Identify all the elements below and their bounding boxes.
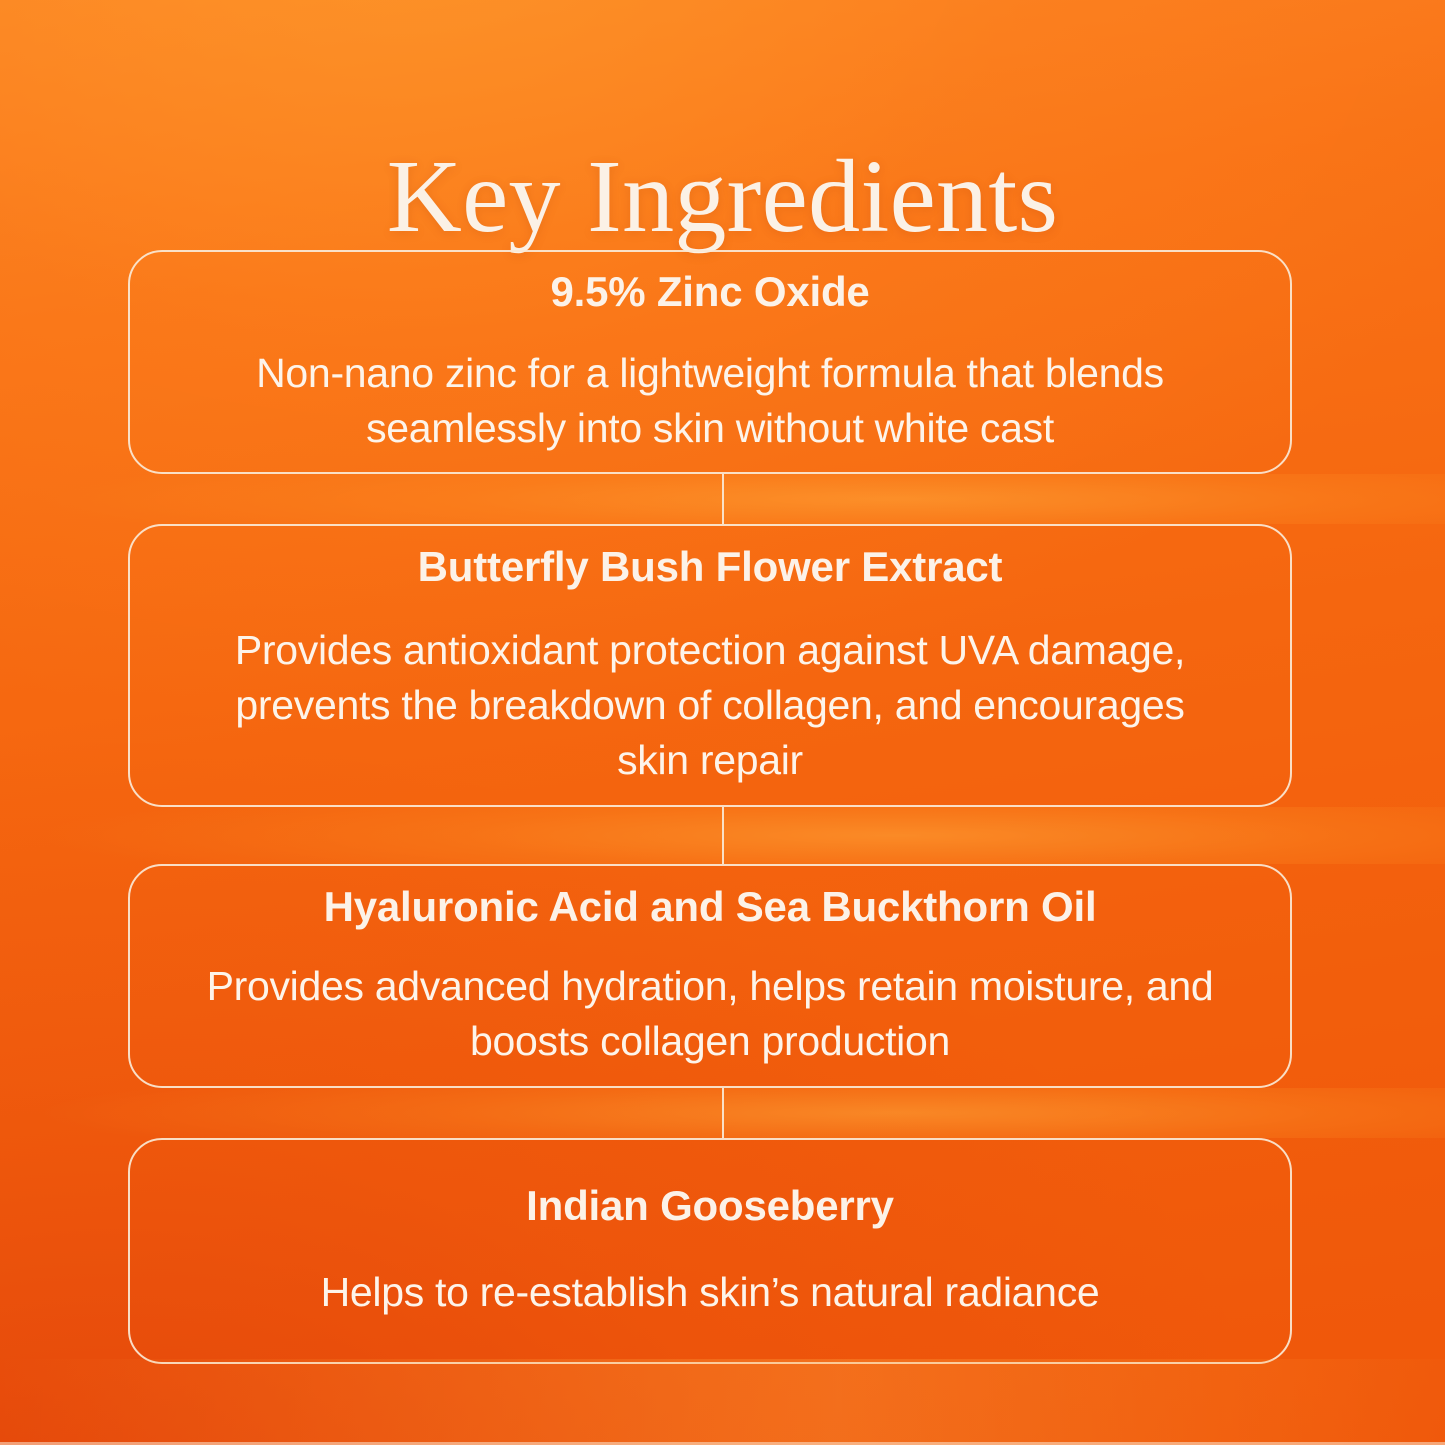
ingredient-description: Helps to re-establish skin’s natural rad…	[321, 1265, 1100, 1320]
card-gap-glow-1	[0, 474, 1445, 524]
bottom-sheen	[0, 1359, 1445, 1445]
ingredient-description: Non-nano zinc for a lightweight formula …	[205, 346, 1215, 456]
ingredient-description: Provides antioxidant protection against …	[205, 623, 1215, 788]
ingredient-card-butterfly-bush-flower-extract: Butterfly Bush Flower Extract Provides a…	[128, 524, 1292, 807]
key-ingredients-poster: Key Ingredients 9.5% Zinc Oxide Non-nano…	[0, 0, 1445, 1445]
ingredient-heading: Butterfly Bush Flower Extract	[418, 543, 1003, 591]
ingredient-description: Provides advanced hydration, helps retai…	[205, 959, 1215, 1069]
ingredient-card-zinc-oxide: 9.5% Zinc Oxide Non-nano zinc for a ligh…	[128, 250, 1292, 474]
ingredient-card-indian-gooseberry: Indian Gooseberry Helps to re-establish …	[128, 1138, 1292, 1364]
ingredient-heading: Hyaluronic Acid and Sea Buckthorn Oil	[324, 883, 1097, 931]
ingredient-card-hyaluronic-acid-sea-buckthorn-oil: Hyaluronic Acid and Sea Buckthorn Oil Pr…	[128, 864, 1292, 1088]
card-gap-glow-3	[0, 1088, 1445, 1138]
ingredient-heading: Indian Gooseberry	[526, 1182, 894, 1230]
card-connector-1	[722, 474, 724, 524]
card-gap-glow-2	[0, 807, 1445, 864]
ingredient-heading: 9.5% Zinc Oxide	[550, 268, 869, 316]
page-title: Key Ingredients	[0, 142, 1445, 252]
card-connector-2	[722, 807, 724, 864]
card-connector-3	[722, 1088, 724, 1138]
